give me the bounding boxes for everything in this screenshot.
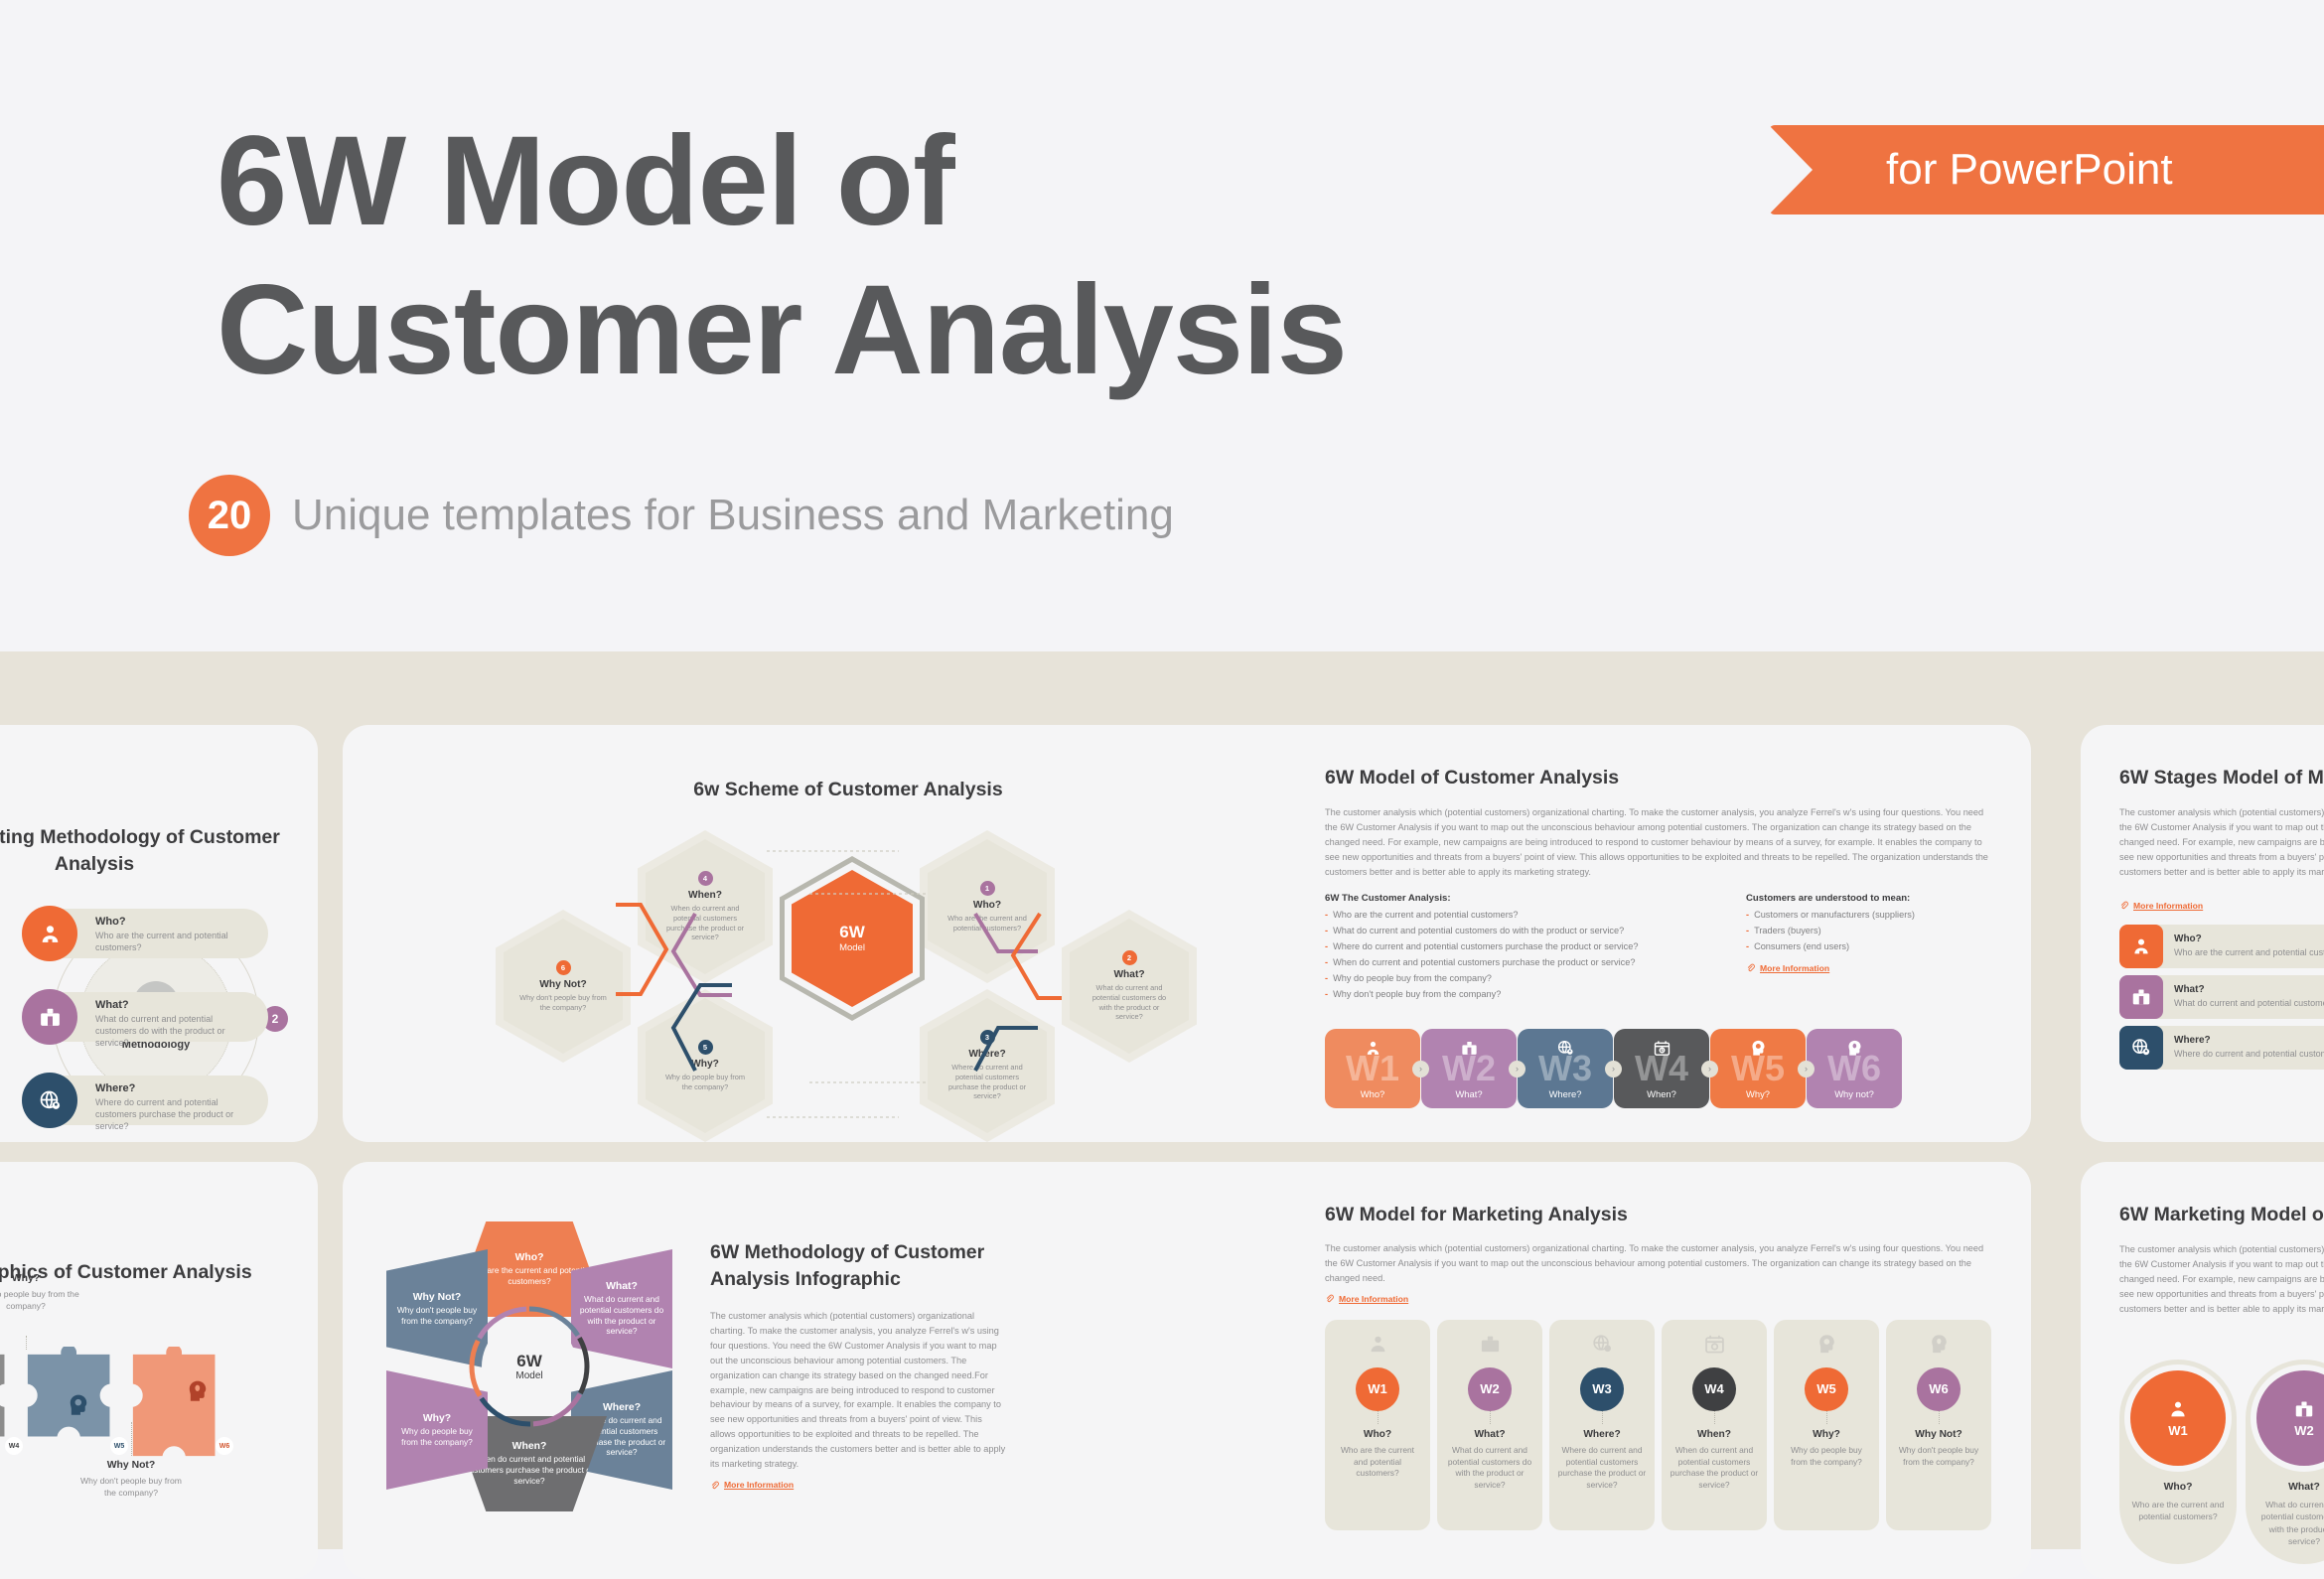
w-block-code: W3	[1518, 1051, 1613, 1086]
w-block-code: W1	[1325, 1051, 1420, 1086]
w-block-code: W6	[1807, 1051, 1902, 1086]
w-block-w4[interactable]: W4 When?	[1614, 1029, 1709, 1108]
callout-title: Why?	[0, 1273, 81, 1284]
analysis-column-w3[interactable]: W3 Where? Where do current and potential…	[1549, 1320, 1655, 1530]
chevron-right-icon: ›	[1509, 1061, 1525, 1077]
column-desc: Why don't people buy from the company?	[1894, 1445, 1983, 1469]
column-title: What?	[1474, 1429, 1505, 1440]
column-title: Why?	[1813, 1429, 1840, 1440]
column-title: When?	[1697, 1429, 1731, 1440]
pill-desc: Who are the current and potential custom…	[95, 931, 254, 954]
card3-left-column: 6W The Customer Analysis: -Who are the c…	[1325, 893, 1694, 1002]
model-column-w1[interactable]: W1 Who? Who are the current and potentia…	[2119, 1360, 2237, 1564]
column-desc: Why do people buy from the company?	[1782, 1445, 1871, 1469]
column-desc: Who are the current and potential custom…	[1333, 1445, 1422, 1481]
w-bubble: W5	[1805, 1367, 1848, 1411]
list-item: -What do current and potential customers…	[1325, 924, 1694, 939]
card4-title: 6W Stages Model of Marketing Analysis	[2119, 765, 2324, 791]
hex-diagram: 4 When? When do current and potential cu…	[343, 725, 1354, 1142]
column-title: Who?	[1364, 1429, 1391, 1440]
w-block-label: Why?	[1710, 1088, 1806, 1099]
list-item: -Why don't people buy from the company?	[1325, 987, 1694, 1003]
analysis-column-w5[interactable]: W5 Why? Why do people buy from the compa…	[1774, 1320, 1879, 1530]
stem-connector	[1602, 1411, 1603, 1424]
callout-why: Why? Why do people buy from the company?	[0, 1273, 81, 1312]
pill-desc: What do current and potential customers …	[95, 1014, 254, 1050]
segment-title: Why Not?	[413, 1292, 461, 1303]
page-title-line2: Customer Analysis	[217, 256, 1607, 405]
column-desc: Where do current and potential customers…	[1557, 1445, 1647, 1493]
analysis-column-w2[interactable]: W2 What? What do current and potential c…	[1437, 1320, 1542, 1530]
w-block-label: Why not?	[1807, 1088, 1902, 1099]
stage-desc: Where do current and potential customers…	[2174, 1048, 2324, 1061]
list-item: -Who are the current and potential custo…	[1325, 908, 1694, 924]
w-block-label: Where?	[1518, 1088, 1613, 1099]
w-bubble: W4	[1692, 1367, 1736, 1411]
box-icon	[2119, 975, 2163, 1019]
hub-abbr: 6W	[516, 1353, 542, 1369]
page-title: 6W Model of Customer Analysis	[217, 107, 1607, 405]
column-desc: What do current and potential customers …	[2255, 1499, 2324, 1548]
w-bubble: W1	[1356, 1367, 1399, 1411]
pill-title: What?	[95, 999, 254, 1012]
list-item: -When do current and potential customers…	[1325, 955, 1694, 971]
column-desc: What do current and potential customers …	[1445, 1445, 1534, 1493]
stage-row-what[interactable]: What?What do current and potential custo…	[2119, 975, 2324, 1019]
pill-desc: Where do current and potential customers…	[95, 1097, 254, 1133]
slide-gallery: 6W Marketing Methodology of Customer Ana…	[0, 651, 2324, 1549]
w-block-w1[interactable]: W1 Who?	[1325, 1029, 1420, 1108]
card4-paragraph: The customer analysis which (potential c…	[2119, 805, 2324, 893]
slide-card-marketing-model[interactable]: 6W Marketing Model of Customer Analysis …	[2081, 1162, 2324, 1579]
card7-paragraph: The customer analysis which (potential c…	[1325, 1241, 1992, 1286]
more-information-link[interactable]: More Information	[710, 1480, 1008, 1490]
stem-connector	[1714, 1411, 1715, 1424]
pill-where[interactable]: Where? Where do current and potential cu…	[40, 1076, 268, 1125]
box-icon	[2293, 1398, 2315, 1420]
w-code: W2	[2294, 1423, 2314, 1438]
chevron-right-icon: ›	[1798, 1061, 1815, 1077]
w-block-w2[interactable]: W2 What?	[1421, 1029, 1517, 1108]
pill-what[interactable]: What? What do current and potential cust…	[40, 992, 268, 1042]
page-title-line1: 6W Model of	[217, 110, 954, 252]
subtitle-text: Unique templates for Business and Market…	[292, 491, 1174, 540]
w-block-w5[interactable]: W5 Why?	[1710, 1029, 1806, 1108]
card6-text-panel: 6W Methodology of Customer Analysis Info…	[710, 1239, 1008, 1490]
slide-card-stages-model[interactable]: 6W Stages Model of Marketing Analysis Th…	[2081, 725, 2324, 1142]
column-desc: When do current and potential customers …	[1670, 1445, 1759, 1493]
segment-title: Why?	[423, 1413, 451, 1424]
chevron-right-icon: ›	[1412, 1061, 1429, 1077]
paperclip-icon	[1746, 963, 1755, 972]
w-block-row: W1 Who? › W2 What? › W3 Where? › W4 When…	[1325, 1029, 1902, 1108]
w-block-code: W5	[1710, 1051, 1806, 1086]
paperclip-icon	[2119, 901, 2128, 910]
ribbon-label: for PowerPoint	[1886, 145, 2173, 195]
puzzle-piece-w5[interactable]: W5	[20, 1347, 137, 1464]
hero-section: 6W Model of Customer Analysis 20 Unique …	[0, 0, 2324, 651]
stage-title: Who?	[2174, 933, 2324, 944]
card7-title: 6W Model for Marketing Analysis	[1325, 1202, 1992, 1228]
column-title: Why Not?	[1915, 1429, 1962, 1440]
segment-title: When?	[512, 1441, 547, 1452]
column-title: Where?	[1583, 1429, 1620, 1440]
w-block-label: When?	[1614, 1088, 1709, 1099]
w-block-code: W2	[1421, 1051, 1517, 1086]
w-bubble: W1	[2130, 1370, 2226, 1466]
slide-card-6w-model[interactable]: 6W Model of Customer Analysis The custom…	[1286, 725, 2031, 1142]
pill-title: Where?	[95, 1082, 254, 1095]
card3-title: 6W Model of Customer Analysis	[1325, 765, 1992, 791]
head-bulb-icon	[185, 1378, 211, 1404]
for-powerpoint-ribbon: for PowerPoint	[1769, 125, 2324, 215]
list-item: -Customers or manufacturers (suppliers)	[1746, 908, 1992, 924]
head-gear-icon	[66, 1392, 91, 1418]
wheel-hub: 6W Model	[482, 1319, 577, 1414]
w-bubble: W2	[2256, 1370, 2324, 1466]
hex-wheel-diagram: Who? Who are the current and potential c…	[390, 1221, 668, 1509]
model-column-w2[interactable]: W2 What? What do current and potential c…	[2246, 1360, 2324, 1564]
w-block-w6[interactable]: W6 Why not?	[1807, 1029, 1902, 1108]
card6-paragraph: The customer analysis which (potential c…	[710, 1309, 1008, 1472]
w-block-label: Who?	[1325, 1088, 1420, 1099]
stage-title: Where?	[2174, 1035, 2324, 1046]
slide-card-methodology[interactable]: 6W Marketing Methodology of Customer Ana…	[0, 725, 318, 1142]
segment-title: Where?	[603, 1402, 641, 1413]
hub-label: Model	[515, 1370, 542, 1381]
list-item: -Consumers (end users)	[1746, 939, 1992, 955]
stage-desc: What do current and potential customers …	[2174, 997, 2324, 1010]
w-block-w3[interactable]: W3 Where?	[1518, 1029, 1613, 1108]
chevron-right-icon: ›	[1605, 1061, 1622, 1077]
pill-title: Who?	[95, 916, 254, 929]
template-count-badge: 20	[189, 475, 270, 556]
box-icon	[22, 989, 77, 1045]
list-item: -Where do current and potential customer…	[1325, 939, 1694, 955]
stem-connector	[1826, 1411, 1827, 1424]
slide-card-puzzle-steps[interactable]: Step-by-step Infographics of Customer An…	[0, 1162, 318, 1579]
w-block-label: What?	[1421, 1088, 1517, 1099]
callout-whynot: Why Not? Why don't people buy from the c…	[75, 1460, 187, 1499]
puzzle-piece-w6[interactable]: W6	[125, 1347, 242, 1464]
paperclip-icon	[710, 1481, 719, 1490]
right-heading: Customers are understood to mean:	[1746, 893, 1992, 904]
stem-connector	[1490, 1411, 1491, 1424]
stage-row-who[interactable]: Who?Who are the current and potential cu…	[2119, 925, 2324, 968]
analysis-column-w6[interactable]: W6 Why Not? Why don't people buy from th…	[1886, 1320, 1991, 1530]
analysis-column-w4[interactable]: W4 When? When do current and potential c…	[1662, 1320, 1767, 1530]
stage-row-where[interactable]: Where?Where do current and potential cus…	[2119, 1026, 2324, 1070]
callout-connector	[131, 1422, 132, 1456]
card6-title: 6W Methodology of Customer Analysis Info…	[710, 1239, 1008, 1292]
calendar-clock-icon	[1703, 1332, 1726, 1358]
left-heading: 6W The Customer Analysis:	[1325, 893, 1694, 904]
w-bubble: W3	[1580, 1367, 1624, 1411]
stage-title: What?	[2174, 984, 2324, 995]
callout-connector	[26, 1336, 27, 1350]
person-icon	[22, 906, 77, 961]
globe-pin-icon	[1591, 1332, 1614, 1358]
paperclip-icon	[1325, 1294, 1334, 1303]
slide-card-hex-scheme[interactable]: 6w Scheme of Customer Analysis 4 When? W…	[343, 725, 1354, 1142]
person-icon	[2167, 1398, 2189, 1420]
list-item: -Traders (buyers)	[1746, 924, 1992, 939]
subtitle-row: 20 Unique templates for Business and Mar…	[189, 475, 1174, 556]
globe-pin-icon	[22, 1073, 77, 1128]
stage-desc: Who are the current and potential custom…	[2174, 946, 2324, 959]
card1-title: 6W Marketing Methodology of Customer Ana…	[0, 824, 288, 878]
more-information-link[interactable]: More Information	[1746, 963, 1992, 973]
head-bulb-icon	[1928, 1332, 1951, 1358]
card8-paragraph: The customer analysis which (potential c…	[2119, 1242, 2324, 1330]
segment-title: What?	[606, 1281, 638, 1292]
stem-connector	[1939, 1411, 1940, 1424]
globe-pin-icon	[2119, 1026, 2163, 1070]
pill-who[interactable]: Who? Who are the current and potential c…	[40, 909, 268, 958]
stem-connector	[1378, 1411, 1379, 1424]
list-item: -Why do people buy from the company?	[1325, 971, 1694, 987]
w-bubble: W2	[1468, 1367, 1512, 1411]
analysis-column-w1[interactable]: W1 Who? Who are the current and potentia…	[1325, 1320, 1430, 1530]
slide-card-marketing-analysis[interactable]: 6W Model for Marketing Analysis The cust…	[1286, 1162, 2031, 1579]
card3-paragraph: The customer analysis which (potential c…	[1325, 805, 1992, 880]
callout-desc: Why don't people buy from the company?	[75, 1475, 187, 1499]
person-icon	[2119, 925, 2163, 968]
card8-title: 6W Marketing Model of Customer Analysis	[2119, 1202, 2324, 1228]
hex-connectors	[343, 725, 1354, 1142]
head-gear-icon	[1816, 1332, 1838, 1358]
callout-desc: Why do people buy from the company?	[0, 1288, 81, 1312]
column-title: Who?	[2164, 1482, 2193, 1493]
column-title: What?	[2288, 1482, 2320, 1493]
w-block-code: W4	[1614, 1051, 1709, 1086]
segment-title: Who?	[515, 1252, 544, 1263]
piece-tag: W6	[216, 1437, 233, 1455]
chevron-right-icon: ›	[1701, 1061, 1718, 1077]
w-code: W1	[2168, 1423, 2188, 1438]
more-information-link[interactable]: More Information	[2119, 901, 2324, 911]
column-desc: Who are the current and potential custom…	[2129, 1499, 2227, 1523]
slide-card-methodology-infographic[interactable]: Who? Who are the current and potential c…	[343, 1162, 1354, 1579]
person-icon	[1367, 1332, 1389, 1358]
callout-title: Why Not?	[75, 1460, 187, 1471]
w-bubble: W6	[1917, 1367, 1961, 1411]
card3-right-column: Customers are understood to mean: -Custo…	[1746, 893, 1992, 1002]
more-information-link[interactable]: More Information	[1325, 1294, 1992, 1304]
box-icon	[1479, 1332, 1502, 1358]
